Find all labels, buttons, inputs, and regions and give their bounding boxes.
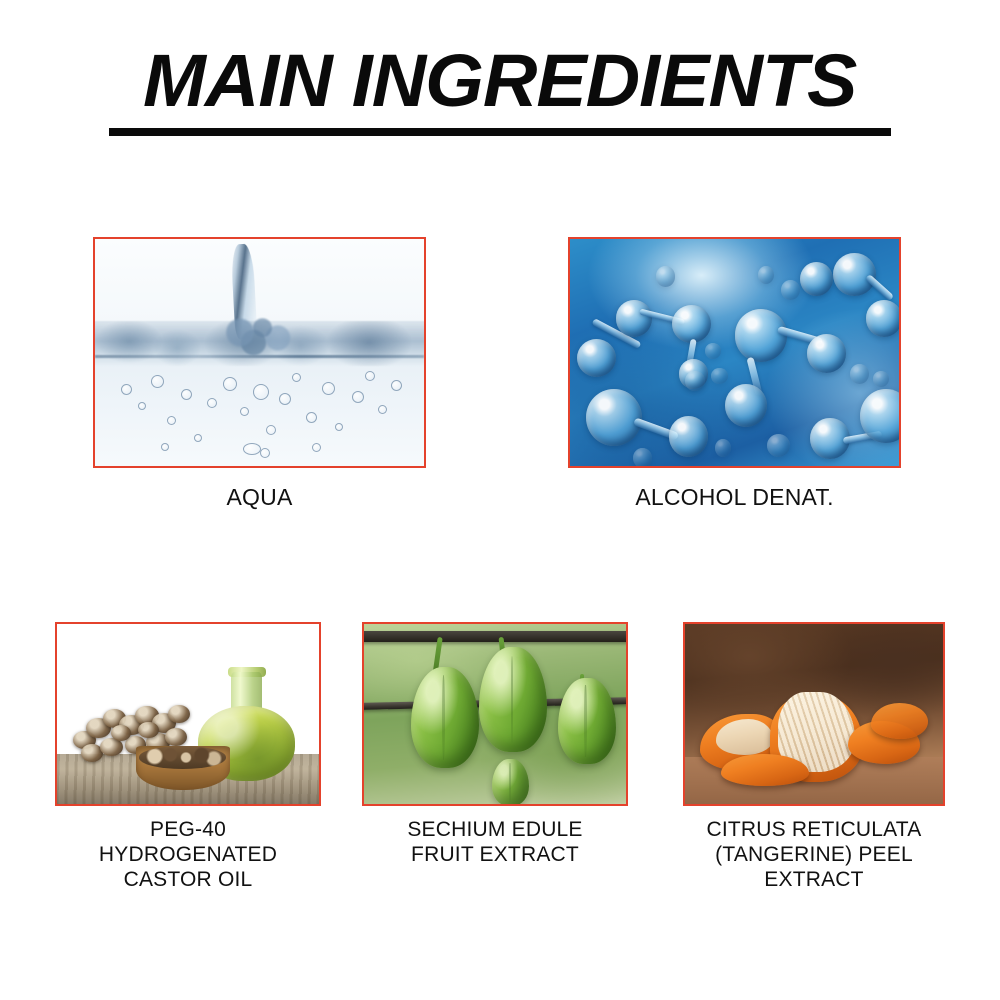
- tangerine-peel-piece: [871, 703, 928, 739]
- ingredient-card-citrus-reticulata-tangerine-peel-extract[interactable]: CITRUS RETICULATA (TANGERINE) PEEL EXTRA…: [683, 622, 945, 892]
- seed-bowl: [136, 746, 230, 789]
- peel-pith: [716, 719, 773, 755]
- ingredient-caption-citrus-reticulata-tangerine-peel-extract: CITRUS RETICULATA (TANGERINE) PEEL EXTRA…: [683, 817, 945, 892]
- page-header: MAIN INGREDIENTS: [0, 42, 1000, 136]
- chayote-image: [364, 624, 626, 804]
- ingredient-photo-frame: [683, 622, 945, 806]
- ingredient-card-peg-40-hydrogenated-castor-oil[interactable]: PEG-40 HYDROGENATED CASTOR OIL: [55, 622, 321, 892]
- castor-oil-image: [57, 624, 319, 804]
- chayote-fruit-small: [492, 759, 529, 804]
- ingredient-photo-frame: [55, 622, 321, 806]
- ingredient-caption-alcohol-denat: ALCOHOL DENAT.: [568, 484, 901, 511]
- molecule-image: [570, 239, 899, 466]
- ingredient-card-aqua[interactable]: AQUA: [93, 237, 426, 511]
- chayote-fruit: [479, 647, 547, 751]
- chayote-fruit: [411, 667, 479, 768]
- page-title: MAIN INGREDIENTS: [143, 42, 856, 120]
- ingredient-photo-frame: [93, 237, 426, 468]
- ingredient-caption-aqua: AQUA: [93, 484, 426, 511]
- ingredient-caption-peg-40-hydrogenated-castor-oil: PEG-40 HYDROGENATED CASTOR OIL: [55, 817, 321, 892]
- ingredient-photo-frame: [362, 622, 628, 806]
- tangerine-peel-image: [685, 624, 943, 804]
- trellis-bar-top: [364, 631, 626, 642]
- water-image: [95, 239, 424, 466]
- ingredient-caption-sechium-edule-fruit-extract: SECHIUM EDULE FRUIT EXTRACT: [362, 817, 628, 867]
- ingredient-card-sechium-edule-fruit-extract[interactable]: SECHIUM EDULE FRUIT EXTRACT: [362, 622, 628, 867]
- water-bubbles: [95, 239, 424, 466]
- ingredient-photo-frame: [568, 237, 901, 468]
- chayote-fruit: [558, 678, 616, 764]
- ingredient-card-alcohol-denat[interactable]: ALCOHOL DENAT.: [568, 237, 901, 511]
- title-underline-rule: [109, 128, 891, 136]
